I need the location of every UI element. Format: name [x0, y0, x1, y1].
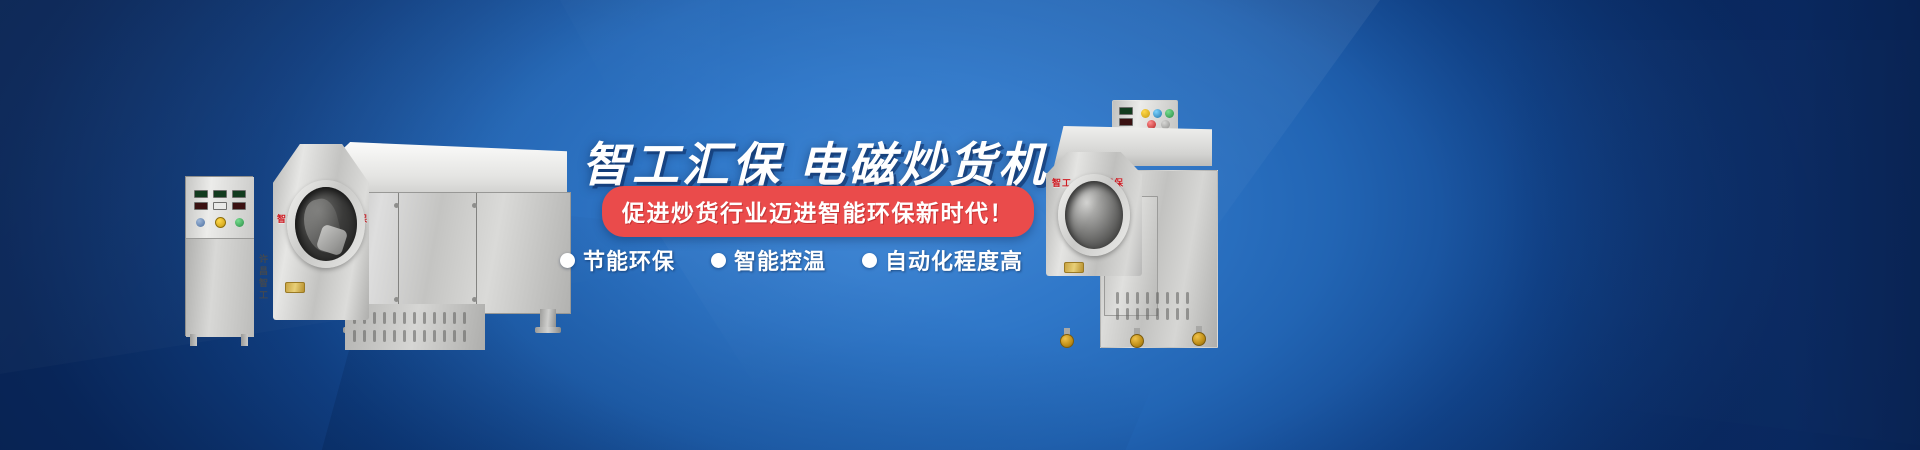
feature-label: 节能环保	[583, 244, 675, 276]
panel-meter-3	[232, 190, 246, 198]
product-image-left-roaster: 许昌智工	[185, 108, 555, 348]
promo-banner: 许昌智工	[0, 0, 1920, 450]
cabinet-hinge-3	[472, 203, 477, 208]
feature-item-smart-temperature: 智能控温	[711, 244, 826, 276]
right-drum-opening	[1065, 181, 1123, 249]
page-title: 智工汇保 电磁炒货机	[582, 126, 1048, 195]
control-cabinet-legs	[188, 334, 250, 346]
control-panel-face	[186, 177, 254, 239]
right-panel-knob-grey	[1161, 120, 1170, 129]
feature-item-energy-saving: 节能环保	[560, 244, 675, 276]
roaster-foot-3	[535, 327, 561, 333]
feature-label: 智能控温	[734, 244, 826, 276]
panel-display-1	[194, 202, 208, 210]
banner-copy-block: 智工汇保 电磁炒货机 促进炒货行业迈进智能环保新时代！ 节能环保 智能控温 自动…	[548, 112, 1068, 322]
control-cabinet	[185, 176, 253, 336]
filled-circle-bullet-icon	[862, 253, 877, 268]
right-panel-knob-blue	[1153, 109, 1162, 118]
cabinet-leg-left	[190, 334, 197, 346]
machine-nameplate	[285, 282, 305, 293]
panel-switch-1	[196, 218, 205, 227]
control-cabinet-body	[186, 239, 254, 337]
caster-wheel-left	[1060, 334, 1074, 348]
cabinet-hinge-4	[472, 297, 477, 302]
right-roaster-vent-panel	[1112, 288, 1208, 328]
panel-display-3	[232, 202, 246, 210]
product-image-right-roaster: 智工 汇保	[1038, 100, 1228, 350]
panel-indicator-green	[235, 218, 244, 227]
right-edge-shade	[1500, 0, 1920, 450]
tagline-text: 促进炒货行业迈进智能环保新时代！	[622, 200, 1014, 226]
roaster-main-cabinet	[335, 192, 571, 314]
drum-opening	[295, 187, 357, 261]
cabinet-hinge-2	[394, 297, 399, 302]
machine-vertical-brand-text: 许昌智工	[257, 254, 270, 302]
filled-circle-bullet-icon	[560, 253, 575, 268]
right-control-panel	[1112, 100, 1178, 130]
cabinet-seam-1	[398, 193, 399, 313]
caster-wheel-right	[1192, 332, 1206, 346]
right-panel-meter-1	[1119, 107, 1133, 115]
panel-meter-2	[213, 190, 227, 198]
panel-display-2	[213, 202, 227, 210]
right-panel-knob-red	[1147, 120, 1156, 129]
right-panel-knob-yellow	[1141, 109, 1150, 118]
emergency-stop-knob	[215, 217, 226, 228]
caster-wheel-mid	[1130, 334, 1144, 348]
feature-list: 节能环保 智能控温 自动化程度高	[560, 244, 1023, 276]
right-panel-knob-green	[1165, 109, 1174, 118]
panel-meter-1	[194, 190, 208, 198]
cabinet-hinge-1	[394, 203, 399, 208]
right-machine-nameplate	[1064, 262, 1084, 273]
cabinet-leg-right	[241, 334, 248, 346]
filled-circle-bullet-icon	[711, 253, 726, 268]
tagline-ribbon: 促进炒货行业迈进智能环保新时代！	[602, 186, 1034, 237]
feature-item-automation: 自动化程度高	[862, 244, 1023, 276]
feature-label: 自动化程度高	[885, 244, 1023, 276]
cabinet-seam-2	[476, 193, 477, 313]
right-panel-display-1	[1119, 118, 1133, 126]
